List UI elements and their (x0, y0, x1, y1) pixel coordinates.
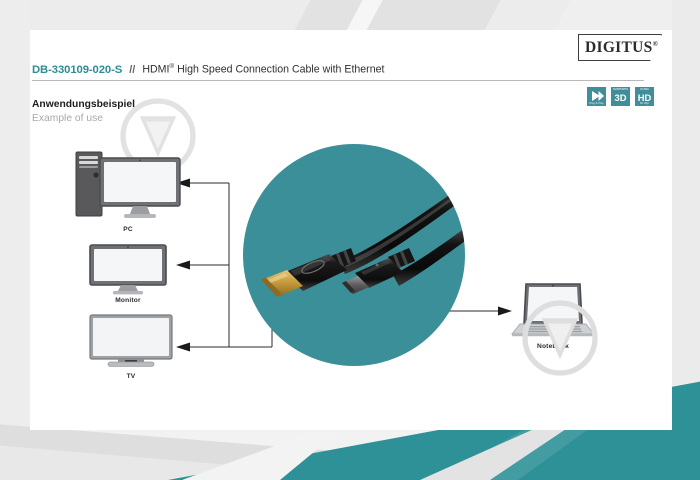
3d-ready-badge-label: 3D (611, 92, 630, 103)
product-name: HDMI® High Speed Connection Cable with E… (142, 63, 384, 76)
device-pc (72, 150, 184, 224)
device-monitor (88, 243, 168, 295)
ultra-hd-badge: ULTRA HD 4K 2Kp (634, 86, 655, 107)
product-datasheet-page: DIGITUS® DB-330109-020-S // HDMI® High S… (0, 0, 700, 480)
ultra-hd-badge-caption: 4K 2Kp (635, 102, 654, 105)
digitus-logo-text: DIGITUS® (579, 39, 658, 57)
device-pc-label: PC (72, 226, 184, 233)
device-monitor-label: Monitor (88, 297, 168, 304)
background-right-band (672, 0, 700, 480)
product-title-row: DB-330109-020-S // HDMI® High Speed Conn… (32, 63, 644, 76)
title-divider (32, 80, 644, 81)
background-left-band (0, 0, 30, 480)
feature-badge-group: Plug & Play SUPPORTS 3D ULTRA HD 4K 2Kp (586, 86, 655, 107)
device-tv-label: TV (88, 373, 174, 380)
title-separator: // (122, 64, 142, 76)
hdmi-cable-illustration (243, 144, 465, 366)
plug-and-play-badge-caption: Plug & Play (587, 102, 606, 105)
device-tv (88, 313, 174, 371)
device-notebook (510, 282, 596, 340)
background-top-band (0, 0, 700, 34)
section-heading-en: Example of use (32, 113, 103, 124)
3d-ready-badge: SUPPORTS 3D (610, 86, 631, 107)
plug-and-play-badge: Plug & Play (586, 86, 607, 107)
micro-hdmi-dot (376, 264, 379, 267)
product-sku: DB-330109-020-S (32, 64, 122, 76)
device-notebook-label: Notebook (510, 343, 596, 350)
section-heading-de: Anwendungsbeispiel (32, 99, 135, 110)
digitus-logo: DIGITUS® (578, 34, 662, 61)
